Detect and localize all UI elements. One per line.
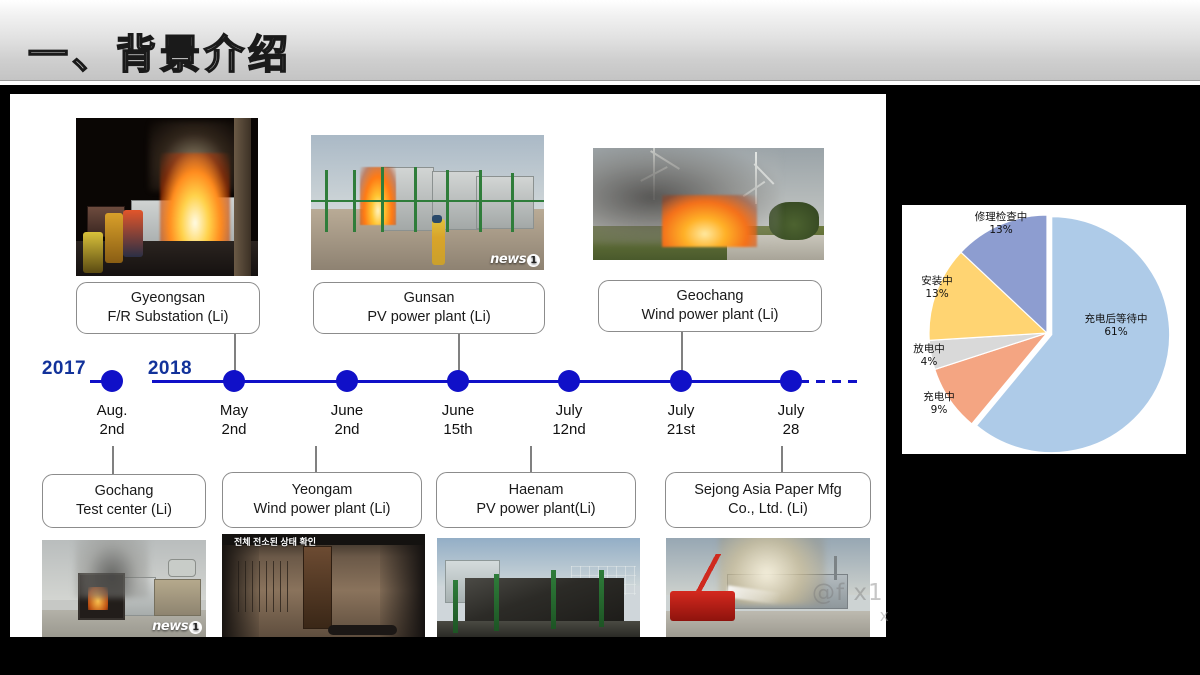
overlay-watermark-secondary: x xyxy=(880,606,889,626)
date-day: 28 xyxy=(783,421,800,438)
photo-green-post xyxy=(551,570,556,629)
label-line1: Sejong Asia Paper Mfg xyxy=(694,482,842,498)
photo-green-post xyxy=(453,580,458,633)
connector-stem xyxy=(530,446,532,474)
photo-shadow-left xyxy=(222,534,259,637)
connector-stem xyxy=(781,446,783,474)
date-day: 2nd xyxy=(334,421,359,438)
timeline-dot-2[interactable] xyxy=(223,370,245,392)
connector-stem xyxy=(112,446,114,474)
photo-ground xyxy=(437,621,640,637)
pie-label-installing: 安装中13% xyxy=(900,275,974,301)
photo-fence-post xyxy=(511,173,514,232)
photo-fence-post xyxy=(381,167,384,232)
timeline-date-1: Aug.2nd xyxy=(97,402,128,440)
event-label-geochang[interactable]: GeochangWind power plant (Li) xyxy=(598,280,822,332)
label-line1: Haenam xyxy=(509,482,564,498)
photo-ladder-arm xyxy=(674,554,743,594)
event-label-gunsan[interactable]: GunsanPV power plant (Li) xyxy=(313,282,545,334)
gyeongsan-night-fire-photo xyxy=(76,118,258,276)
yeongam-burnt-interior-photo: 전체 전소된 상태 확인 xyxy=(222,534,425,637)
photo-hose xyxy=(328,625,397,635)
timeline-date-7: July28 xyxy=(778,402,805,440)
date-day: 2nd xyxy=(99,421,124,438)
timeline-dot-3[interactable] xyxy=(336,370,358,392)
photo-chimney xyxy=(834,556,837,580)
timeline-date-4: June15th xyxy=(442,402,475,440)
timeline-dot-7[interactable] xyxy=(780,370,802,392)
photo-flame xyxy=(662,195,757,247)
event-label-sejong[interactable]: Sejong Asia Paper MfgCo., Ltd. (Li) xyxy=(665,472,871,528)
photo-fence-post xyxy=(446,170,449,232)
firefighter-figure xyxy=(432,219,445,265)
photo-fence-post xyxy=(325,170,328,232)
status-pie-chart: 修理检查中13% 安装中13% 放电中4% 充电中9% 充电后等待中61% xyxy=(902,205,1186,454)
photo-flame xyxy=(360,167,396,225)
photo-fence-post xyxy=(479,170,482,232)
date-month: June xyxy=(442,402,475,419)
haenam-collapsed-structure-photo xyxy=(437,538,640,637)
pie-label-standby: 充电后等待中61% xyxy=(1060,313,1172,339)
label-line1: Geochang xyxy=(677,288,744,304)
firefighter-figure xyxy=(123,210,143,257)
timeline-date-6: July21st xyxy=(667,402,695,440)
label-line2: Test center (Li) xyxy=(76,502,172,518)
firefighter-figure xyxy=(83,232,103,273)
photo-shadow-right xyxy=(380,534,425,637)
photo-green-post xyxy=(494,574,499,631)
timeline-axis-dashed-end xyxy=(800,380,862,383)
page-title: 一、背景介绍 xyxy=(28,22,292,80)
timeline-date-2: May2nd xyxy=(220,402,248,440)
timeline-axis-gap xyxy=(122,380,152,383)
date-month: July xyxy=(668,402,695,419)
label-line1: Yeongam xyxy=(292,482,353,498)
event-label-haenam[interactable]: HaenamPV power plant(Li) xyxy=(436,472,636,528)
photo-fire-truck xyxy=(670,591,735,621)
news1-watermark: news1 xyxy=(152,619,202,634)
content-panel: news1 GyeongsanF/R Substation (Li) Gunsa… xyxy=(10,94,886,637)
label-line2: Wind power plant (Li) xyxy=(642,307,779,323)
firefighter-figure xyxy=(105,213,123,264)
photo-pole xyxy=(234,118,250,276)
photo-building xyxy=(476,176,534,229)
label-line2: Wind power plant (Li) xyxy=(254,501,391,517)
photo-green-post xyxy=(599,570,604,627)
label-line1: Gochang xyxy=(95,483,154,499)
photo-caption-text: 전체 전소된 상태 확인 xyxy=(234,535,316,548)
event-label-gyeongsan[interactable]: GyeongsanF/R Substation (Li) xyxy=(76,282,260,334)
pie-label-charging: 充电中9% xyxy=(906,391,972,417)
timeline-date-5: July12nd xyxy=(552,402,585,440)
geochang-wind-fire-photo xyxy=(593,148,824,260)
date-day: 2nd xyxy=(221,421,246,438)
timeline-dot-1[interactable] xyxy=(101,370,123,392)
connector-stem xyxy=(315,446,317,474)
timeline-dot-5[interactable] xyxy=(558,370,580,392)
pie-label-repair: 修理检查中13% xyxy=(946,211,1056,237)
label-line2: PV power plant (Li) xyxy=(367,309,490,325)
date-month: May xyxy=(220,402,248,419)
date-month: June xyxy=(331,402,364,419)
news1-watermark: news1 xyxy=(490,252,540,267)
photo-fence-rail xyxy=(311,200,544,202)
label-line1: Gyeongsan xyxy=(131,290,205,306)
pie-label-discharging: 放电中4% xyxy=(894,343,964,369)
photo-building xyxy=(154,579,202,616)
label-line2: PV power plant(Li) xyxy=(476,501,595,517)
photo-fence-post xyxy=(353,170,356,232)
photo-water-cannon xyxy=(168,559,196,577)
firefighter-helmet xyxy=(432,215,442,223)
date-month: July xyxy=(556,402,583,419)
event-label-gochang[interactable]: GochangTest center (Li) xyxy=(42,474,206,528)
photo-fence-post xyxy=(414,167,417,232)
date-day: 12nd xyxy=(552,421,585,438)
timeline-year-2018: 2018 xyxy=(148,358,192,380)
overlay-watermark: @f x1 xyxy=(812,580,884,606)
timeline-year-2017: 2017 xyxy=(42,358,86,380)
event-label-yeongam[interactable]: YeongamWind power plant (Li) xyxy=(222,472,422,528)
gunsan-pv-fire-photo: news1 xyxy=(311,135,544,270)
date-day: 15th xyxy=(443,421,472,438)
photo-flame xyxy=(160,153,230,253)
date-day: 21st xyxy=(667,421,695,438)
photo-ground xyxy=(76,241,258,276)
timeline-date-3: June2nd xyxy=(331,402,364,440)
date-month: July xyxy=(778,402,805,419)
timeline-dot-4[interactable] xyxy=(447,370,469,392)
photo-smoke xyxy=(75,540,149,598)
timeline-dot-6[interactable] xyxy=(670,370,692,392)
gochang-test-center-smoke-photo: news1 xyxy=(42,540,206,637)
header-divider-rule xyxy=(0,80,1200,85)
date-month: Aug. xyxy=(97,402,128,419)
label-line2: F/R Substation (Li) xyxy=(108,309,229,325)
label-line1: Gunsan xyxy=(404,290,455,306)
label-line2: Co., Ltd. (Li) xyxy=(728,501,808,517)
photo-burnt-column xyxy=(303,546,331,628)
